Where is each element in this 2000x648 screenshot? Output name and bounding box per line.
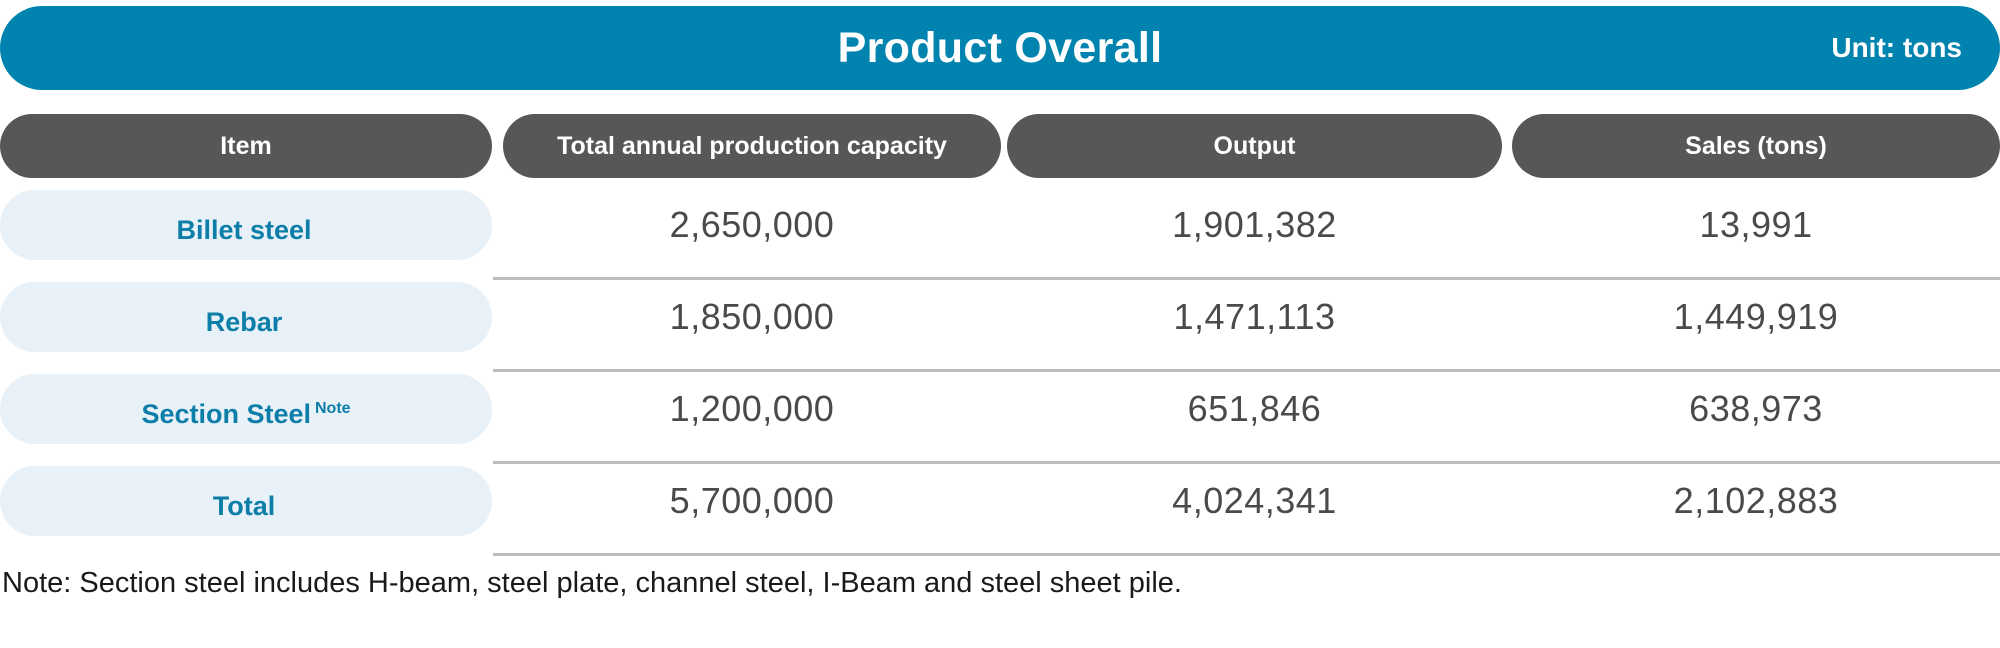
table-row: Billet steel 2,650,000 1,901,382 13,991 xyxy=(0,190,2000,278)
cell-sales: 13,991 xyxy=(1512,190,2000,260)
row-label-pill: Section SteelNote xyxy=(0,374,492,444)
row-label-pill: Total xyxy=(0,466,492,536)
unit-label: Unit: tons xyxy=(1831,6,1962,90)
cell-sales: 638,973 xyxy=(1512,374,2000,444)
table-row: Section SteelNote 1,200,000 651,846 638,… xyxy=(0,374,2000,462)
cell-output: 4,024,341 xyxy=(1007,466,1502,536)
cell-capacity: 2,650,000 xyxy=(503,190,1001,260)
table-row-total: Total 5,700,000 4,024,341 2,102,883 xyxy=(0,466,2000,554)
row-separator xyxy=(493,369,2000,372)
row-separator xyxy=(493,553,2000,556)
row-label-pill: Billet steel xyxy=(0,190,492,260)
cell-sales: 2,102,883 xyxy=(1512,466,2000,536)
cell-output: 1,471,113 xyxy=(1007,282,1502,352)
column-header-capacity: Total annual production capacity xyxy=(503,114,1001,178)
cell-capacity: 1,850,000 xyxy=(503,282,1001,352)
row-label-text: Section Steel xyxy=(141,399,311,429)
title-bar: Product Overall Unit: tons xyxy=(0,6,2000,90)
cell-sales: 1,449,919 xyxy=(1512,282,2000,352)
product-overall-table-page: Product Overall Unit: tons Item Total an… xyxy=(0,0,2000,648)
cell-output: 651,846 xyxy=(1007,374,1502,444)
row-label-pill: Rebar xyxy=(0,282,492,352)
row-label-text: Total xyxy=(213,491,276,521)
row-separator xyxy=(493,461,2000,464)
column-header-item: Item xyxy=(0,114,492,178)
footnote-text: Note: Section steel includes H-beam, ste… xyxy=(2,567,1962,600)
cell-capacity: 5,700,000 xyxy=(503,466,1001,536)
cell-capacity: 1,200,000 xyxy=(503,374,1001,444)
cell-output: 1,901,382 xyxy=(1007,190,1502,260)
row-separator xyxy=(493,277,2000,280)
row-label-superscript: Note xyxy=(315,400,351,417)
column-header-output: Output xyxy=(1007,114,1502,178)
column-header-sales: Sales (tons) xyxy=(1512,114,2000,178)
page-title: Product Overall xyxy=(0,6,2000,90)
table-row: Rebar 1,850,000 1,471,113 1,449,919 xyxy=(0,282,2000,370)
row-label-text: Billet steel xyxy=(176,215,311,245)
row-label-text: Rebar xyxy=(206,307,283,337)
table-header-row: Item Total annual production capacity Ou… xyxy=(0,114,2000,178)
